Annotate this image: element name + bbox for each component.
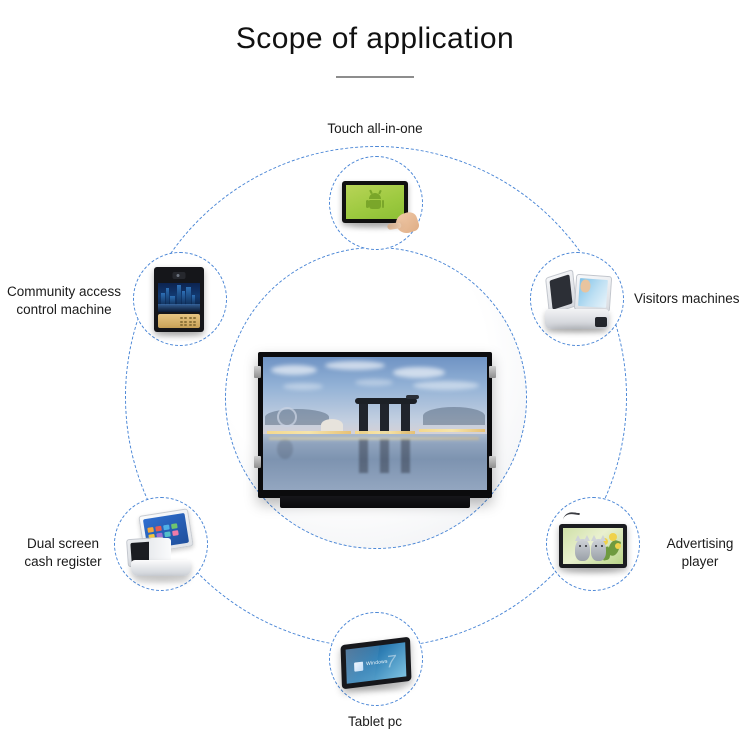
pos-base: [131, 560, 191, 576]
access-panel-screen: [158, 283, 200, 312]
flyer-reflection: [277, 439, 293, 459]
device-shadow: [135, 578, 189, 583]
tablet-bezel: 7 Windows: [340, 637, 411, 690]
cloud: [271, 365, 317, 375]
advertising-player-art: [547, 498, 639, 590]
android-robot-icon: [367, 193, 383, 211]
keypad[interactable]: [158, 314, 200, 328]
screen-glare: [346, 642, 381, 683]
node-touch-all-in-one[interactable]: [329, 156, 423, 250]
kiosk-front-screen: [574, 274, 612, 312]
mounting-tab-bottom-left: [254, 456, 261, 468]
label-advertising-player: Advertisingplayer: [650, 535, 750, 571]
label-community-access-control-machine: Community accesscontrol machine: [0, 283, 128, 319]
visitor-kiosk-art: [531, 253, 623, 345]
lcd-display-panel: [258, 352, 492, 498]
tablet-pc-art: 7 Windows: [330, 613, 422, 705]
camera-icon: [173, 272, 186, 279]
label-dual-screen-cash-register: Dual screencash register: [8, 535, 118, 571]
page-title: Scope of application: [0, 22, 750, 56]
title-divider: [336, 76, 414, 78]
node-visitors-machines[interactable]: [530, 252, 624, 346]
mounting-tab-bottom-right: [489, 456, 496, 468]
infographic-canvas: Scope of application: [0, 0, 750, 750]
node-tablet-pc[interactable]: 7 Windows: [329, 612, 423, 706]
cash-register-art: [115, 498, 207, 590]
node-advertising-player[interactable]: [546, 497, 640, 591]
node-dual-screen-cash-register[interactable]: [114, 497, 208, 591]
scanner-pad: [595, 317, 607, 327]
tablet-screen: 7 Windows: [346, 642, 407, 683]
lcd-panel-base: [280, 496, 470, 508]
access-control-art: [134, 253, 226, 345]
waterfront-lights: [419, 429, 485, 432]
cloud: [413, 381, 479, 390]
flower: [609, 533, 617, 541]
singapore-flyer: [277, 407, 297, 427]
sky-park-cantilever: [406, 395, 419, 399]
tower-reflection: [380, 439, 389, 473]
device-shadow: [158, 331, 200, 335]
cloud: [355, 379, 393, 386]
bay-water: [263, 434, 487, 490]
aio-screen: [346, 185, 404, 219]
cloud: [283, 383, 323, 390]
mounting-tab-top-right: [489, 366, 496, 378]
flower: [615, 543, 621, 549]
mounting-tab-top-left: [254, 366, 261, 378]
distant-hill: [265, 409, 329, 425]
device-shadow: [348, 685, 404, 690]
access-panel-body: [154, 267, 204, 332]
label-visitors-machines: Visitors machines: [634, 290, 750, 308]
label-touch-all-in-one: Touch all-in-one: [0, 120, 750, 138]
lcd-screen-image: [263, 357, 487, 490]
cloud: [393, 367, 445, 378]
ad-player-bezel: [559, 524, 627, 568]
kitten: [591, 539, 606, 561]
device-shadow: [350, 223, 402, 228]
kitten: [575, 539, 590, 561]
node-community-access-control-machine[interactable]: [133, 252, 227, 346]
cloud: [325, 361, 385, 370]
ad-player-screen: [563, 528, 623, 564]
label-tablet-pc: Tablet pc: [0, 713, 750, 731]
keypad-buttons: [180, 317, 197, 326]
light-reflection: [269, 437, 479, 440]
distant-hill: [423, 407, 485, 425]
device-shadow: [565, 568, 619, 573]
artscience-museum: [321, 419, 343, 431]
touch-all-in-one-art: [330, 157, 422, 249]
tower-reflection: [401, 439, 410, 473]
device-shadow: [549, 327, 605, 332]
tower-reflection: [359, 439, 368, 473]
